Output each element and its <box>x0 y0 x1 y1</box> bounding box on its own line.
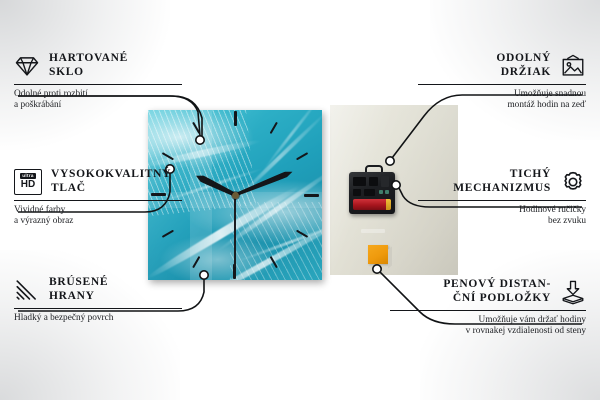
feature-title-line2: HRANY <box>49 290 95 302</box>
down-arrow-stack-icon <box>560 279 586 305</box>
feature-desc-line1: Hodinové ručičky <box>519 205 586 215</box>
movement-detail <box>353 189 361 196</box>
feature-title-line2: TLAČ <box>51 182 86 194</box>
feature-title-line2: DRŽIAK <box>501 66 551 78</box>
feature-title-line1: PENOVÝ DISTAN- <box>443 278 551 290</box>
feature-divider <box>390 310 586 311</box>
feature-high-quality-print[interactable]: ultra HD VYSOKOKVALITNÝ TLAČ Vividné far… <box>14 168 182 228</box>
clock-second-hand <box>234 195 236 267</box>
feature-divider <box>14 84 182 85</box>
feature-divider <box>418 200 586 201</box>
movement-detail <box>379 190 383 194</box>
foam-spacer-pad <box>368 245 388 264</box>
feature-desc-line2: a poškrábání <box>14 100 61 110</box>
feature-title-line1: TICHÝ <box>510 168 551 180</box>
movement-detail <box>364 189 375 196</box>
battery-positive-terminal <box>386 199 391 210</box>
feature-tempered-glass[interactable]: HARTOVANÉ SKLO Odolné proti rozbití a po… <box>14 52 182 112</box>
feature-desc-line2: bez zvuku <box>548 216 586 226</box>
feature-divider <box>14 308 182 309</box>
feature-title-line1: BRÚSENÉ <box>49 276 108 288</box>
feature-title-line1: ODOLNÝ <box>496 52 551 64</box>
diamond-icon <box>14 53 40 79</box>
feature-title-line2: MECHANIZMUS <box>453 182 551 194</box>
feature-desc-line1: Umožňuje snadnou <box>514 89 586 99</box>
infographic-canvas: HARTOVANÉ SKLO Odolné proti rozbití a po… <box>0 0 600 400</box>
movement-detail <box>369 177 378 186</box>
gear-icon <box>560 169 586 195</box>
clock-tick-3 <box>235 194 319 196</box>
feature-desc-line2: a výrazný obraz <box>14 216 73 226</box>
feature-title-line2: ČNÍ PODLOŽKY <box>453 292 551 304</box>
feature-divider <box>418 84 586 85</box>
feature-title-line1: VYSOKOKVALITNÝ <box>51 168 171 180</box>
feature-foam-spacers[interactable]: PENOVÝ DISTAN- ČNÍ PODLOŽKY Umožňuje vám… <box>390 278 586 338</box>
feature-title-line1: HARTOVANÉ <box>49 52 128 64</box>
feature-desc-line2: montáž hodin na zeď <box>507 100 586 110</box>
ultra-hd-badge-icon: ultra HD <box>14 169 42 195</box>
feature-durable-hanger[interactable]: ODOLNÝ DRŽIAK Umožňuje snadnou montáž ho… <box>418 52 586 112</box>
picture-frame-icon <box>560 53 586 79</box>
feature-desc-line1: Vividné farby <box>14 205 65 215</box>
diagonal-lines-icon <box>14 277 40 303</box>
feature-desc-line1: Hladký a bezpečný povrch <box>14 313 113 323</box>
feature-ground-edges[interactable]: BRÚSENÉ HRANY Hladký a bezpečný povrch <box>14 276 182 324</box>
clock-center-cap <box>232 192 239 199</box>
clock-movement-box <box>349 172 395 214</box>
feature-desc-line1: Odolné proti rozbití <box>14 89 88 99</box>
feature-silent-mechanism[interactable]: TICHÝ MECHANIZMUS Hodinové ručičky bez z… <box>418 168 586 228</box>
ultra-hd-badge-main-text: HD <box>21 180 35 190</box>
movement-detail <box>353 177 366 186</box>
feature-desc-line2: v rovnakej vzdialenosti od steny <box>466 326 586 336</box>
feature-divider <box>14 200 182 201</box>
battery-label-stripe <box>361 229 385 233</box>
feature-desc-line1: Umožňuje vám držať hodiny <box>479 315 587 325</box>
movement-detail <box>385 190 389 194</box>
clock-tick-12 <box>234 111 236 195</box>
feature-title-line2: SKLO <box>49 66 84 78</box>
movement-detail <box>381 176 389 187</box>
